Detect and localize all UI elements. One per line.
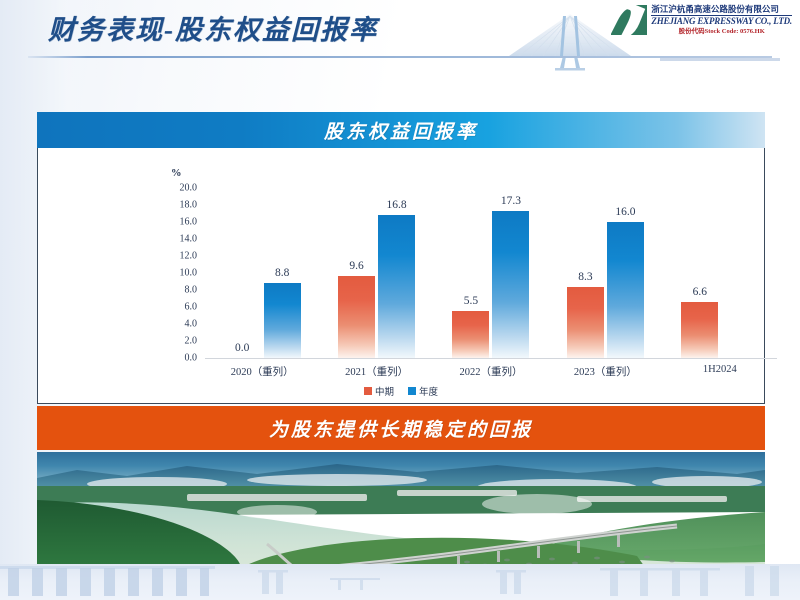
logo-text-block: 浙江沪杭甬高速公路股份有限公司 ZHEJIANG EXPRESSWAY CO.,… bbox=[651, 5, 792, 36]
aerial-landscape-photo bbox=[37, 452, 765, 570]
page-title: 财务表现-股东权益回报率 bbox=[48, 8, 378, 47]
bar-annual[interactable] bbox=[264, 283, 301, 358]
bar-value-label: 16.8 bbox=[387, 199, 407, 211]
chart-bar-group: 0.08.8 bbox=[205, 148, 319, 358]
photo-illustration bbox=[37, 452, 765, 570]
legend-label: 中期 bbox=[375, 384, 394, 398]
bar-value-label: 9.6 bbox=[349, 260, 363, 272]
x-axis-tick-label: 2021（重列） bbox=[345, 364, 408, 379]
chart-bar-group: 5.517.3 bbox=[434, 148, 548, 358]
bar-value-label: 5.5 bbox=[464, 295, 478, 307]
highlight-banner: 为股东提供长期稳定的回报 bbox=[37, 406, 765, 450]
x-axis-tick-label: 2020（重列） bbox=[231, 364, 294, 379]
x-axis-tick-label: 1H2024 bbox=[703, 364, 737, 375]
y-axis-tick: 14.0 bbox=[155, 234, 197, 245]
y-axis-tick: 6.0 bbox=[155, 302, 197, 313]
y-axis-tick: 18.0 bbox=[155, 200, 197, 211]
logo-company-en: ZHEJIANG EXPRESSWAY CO., LTD. bbox=[651, 17, 792, 26]
bar-annual[interactable] bbox=[492, 211, 529, 358]
x-axis-tick-label: 2023（重列） bbox=[574, 364, 637, 379]
bar-annual[interactable] bbox=[607, 222, 644, 358]
chart-bar-group: 8.316.0 bbox=[548, 148, 662, 358]
x-axis-baseline bbox=[205, 358, 777, 359]
legend-item[interactable]: 年度 bbox=[408, 384, 438, 398]
chart-bar-group: 6.6 bbox=[663, 148, 777, 358]
bar-value-label: 8.8 bbox=[275, 267, 289, 279]
expressway-logo-icon bbox=[611, 5, 647, 35]
bar-value-label: 17.3 bbox=[501, 195, 521, 207]
logo-stock-code: 股份代码Stock Code: 0576.HK bbox=[651, 29, 792, 36]
chart-bars-layer: 0.08.89.616.85.517.38.316.06.6 bbox=[205, 148, 777, 358]
bar-value-label: 6.6 bbox=[693, 286, 707, 298]
y-axis-tick: 0.0 bbox=[155, 353, 197, 364]
y-axis-tick: 16.0 bbox=[155, 217, 197, 228]
y-axis-tick: 8.0 bbox=[155, 285, 197, 296]
legend-color-swatch bbox=[364, 387, 372, 395]
x-axis-labels: 2020（重列）2021（重列）2022（重列）2023（重列）1H2024 bbox=[205, 362, 777, 384]
x-axis-tick-label: 2022（重列） bbox=[460, 364, 523, 379]
bar-value-label: 16.0 bbox=[615, 206, 635, 218]
slide-header: 财务表现-股东权益回报率 浙江沪杭甬高速公路股份有限公司 ZHEJIANG EX… bbox=[0, 0, 800, 70]
highlight-banner-text: 为股东提供长期稳定的回报 bbox=[269, 415, 533, 442]
bottom-watermark-strip bbox=[0, 564, 800, 600]
company-logo: 浙江沪杭甬高速公路股份有限公司 ZHEJIANG EXPRESSWAY CO.,… bbox=[611, 5, 792, 36]
bar-annual[interactable] bbox=[378, 215, 415, 358]
chart-title-bar: 股东权益回报率 bbox=[37, 112, 765, 148]
chart-bar-group: 9.616.8 bbox=[319, 148, 433, 358]
y-axis-tick: 12.0 bbox=[155, 251, 197, 262]
y-axis-tick: 20.0 bbox=[155, 183, 197, 194]
legend-label: 年度 bbox=[419, 384, 438, 398]
logo-company-cn: 浙江沪杭甬高速公路股份有限公司 bbox=[651, 5, 792, 16]
header-divider-accent bbox=[660, 58, 780, 61]
legend-item[interactable]: 中期 bbox=[364, 384, 394, 398]
bar-value-label: 0.0 bbox=[235, 342, 249, 354]
bar-interim[interactable] bbox=[681, 302, 718, 358]
bar-interim[interactable] bbox=[452, 311, 489, 358]
bridge-pillars-watermark-icon bbox=[0, 564, 800, 600]
chart-plot-area: % 20.018.016.014.012.010.08.06.04.02.00.… bbox=[37, 148, 765, 404]
bar-interim[interactable] bbox=[338, 276, 375, 358]
y-axis-tick: 4.0 bbox=[155, 319, 197, 330]
y-axis-tick: 2.0 bbox=[155, 336, 197, 347]
bar-value-label: 8.3 bbox=[578, 271, 592, 283]
chart-legend: 中期年度 bbox=[37, 384, 765, 398]
legend-color-swatch bbox=[408, 387, 416, 395]
chart-title: 股东权益回报率 bbox=[324, 117, 478, 144]
y-axis-tick: 10.0 bbox=[155, 268, 197, 279]
y-axis-unit-label: % bbox=[171, 168, 182, 179]
bar-interim[interactable] bbox=[567, 287, 604, 358]
